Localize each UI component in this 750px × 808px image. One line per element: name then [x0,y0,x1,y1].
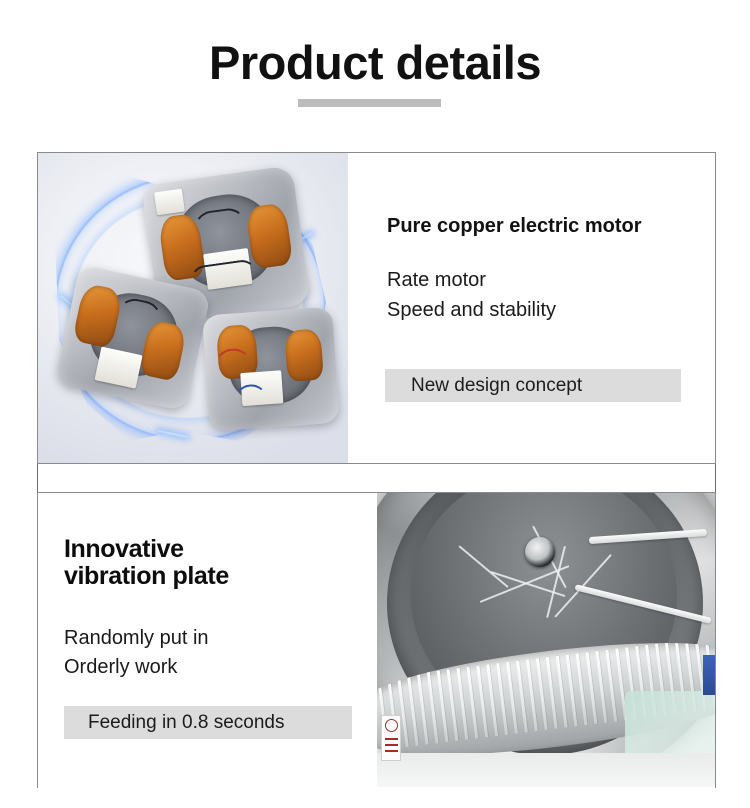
straw-item [466,667,478,739]
card-one-badge: New design concept [385,369,681,402]
warning-symbol-icon [385,719,398,732]
motor-stator-left [55,264,211,411]
motor-stator-right [202,307,340,432]
card-two-line-1: Randomly put in [64,624,209,653]
straw-item [546,657,558,729]
straw-item [486,664,498,736]
straw-item [596,651,608,723]
card-two-heading-line-2: vibration plate [64,563,229,590]
straw-item [556,656,568,728]
card-two-body: Innovative vibration plate Randomly put … [38,493,377,788]
straw-item [526,660,538,732]
straw-item [437,670,449,742]
straw-item [576,653,588,725]
straw-item [457,668,469,740]
card-one-description: Rate motor Speed and stability [387,265,556,325]
straw-item [605,650,617,722]
card-two-line-2: Orderly work [64,653,209,682]
straw-item [447,669,459,741]
product-details-page: Product details [0,0,750,808]
card-one-heading: Pure copper electric motor [387,215,642,238]
card-two-description: Randomly put in Orderly work [64,624,209,682]
copper-winding [284,328,324,381]
card-innovative-vibration-plate: Innovative vibration plate Randomly put … [37,492,716,788]
straw-item [476,666,488,738]
card-two-heading: Innovative vibration plate [64,536,229,590]
straw-item [566,655,578,727]
feeder-photo-background [377,493,715,787]
warning-stripe [385,744,398,746]
straw-item [586,652,598,724]
page-title: Product details [0,37,750,89]
warning-stripe [385,738,398,740]
motor-photo-background [38,153,348,463]
warning-stripe [385,750,398,752]
page-header: Product details [0,0,750,140]
vibration-bowl-feeder-photo [377,493,715,787]
straw-strand [458,545,508,588]
card-one-line-1: Rate motor [387,265,556,295]
straw-item [536,658,548,730]
card-pure-copper-motor: Pure copper electric motor Rate motor Sp… [37,152,716,464]
feeder-center-hub [525,537,555,567]
warning-label-icon [381,715,401,761]
card-one-body: Pure copper electric motor Rate motor Sp… [348,153,715,463]
electric-motor-stators-photo [38,153,348,463]
card-two-badge: Feeding in 0.8 seconds [64,706,352,739]
copper-winding [245,203,293,269]
straw-item [496,663,508,735]
straw-item [516,661,528,733]
title-underline-rule [298,99,441,107]
machine-base-surface [377,753,715,787]
straw-item [427,672,439,744]
machine-blue-trim [703,655,715,695]
card-one-line-2: Speed and stability [387,295,556,325]
straw-item [506,662,518,734]
straw-item [417,673,429,745]
wire-connector [154,189,184,215]
straw-item [407,674,419,746]
card-two-heading-line-1: Innovative [64,536,229,563]
